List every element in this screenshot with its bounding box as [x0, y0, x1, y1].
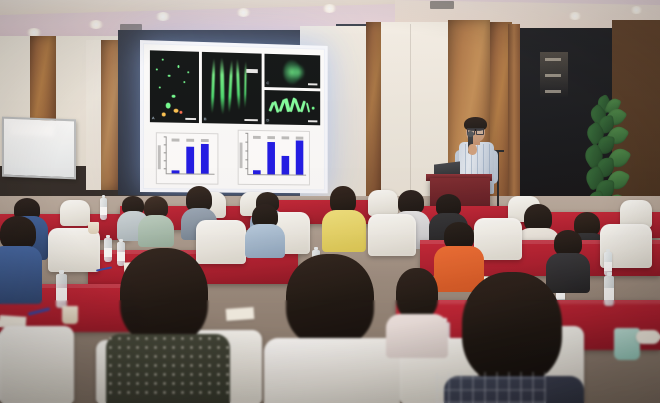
fluorescent-filament — [211, 58, 216, 113]
fluorescent-punctum — [177, 65, 179, 68]
panel-a-content: A — [150, 50, 199, 123]
bottle-label — [604, 262, 612, 271]
plaid-pattern — [436, 372, 546, 403]
scale-bar — [185, 118, 196, 120]
y-tick — [245, 150, 248, 151]
panel-label-b: B — [204, 117, 207, 121]
ceiling-downlight — [630, 6, 643, 14]
y-tick — [245, 133, 248, 134]
torso — [546, 253, 590, 293]
fluorescent-punctum-amber — [174, 109, 179, 113]
hair — [462, 272, 562, 384]
panel-b-content: B — [202, 52, 262, 124]
x-tick-label — [253, 136, 261, 139]
bottle-cap — [314, 247, 318, 250]
bar-left-3 — [201, 144, 209, 174]
tile-seam — [410, 24, 411, 206]
panel-label-c: C — [266, 81, 269, 85]
x-tick-label — [172, 138, 180, 141]
fluorescent-filament — [236, 59, 241, 110]
fluorescent-chevron — [300, 100, 306, 112]
ceiling-downlight — [322, 4, 337, 13]
panel-d-content: D — [264, 90, 320, 125]
speaker-hand — [468, 144, 477, 155]
water-bottle — [604, 276, 614, 306]
chart-left-plot-area — [166, 136, 215, 174]
ceiling-air-vent — [430, 1, 454, 9]
polka-dot-pattern — [106, 334, 230, 400]
doorway-frame — [508, 24, 520, 219]
x-tick-label — [282, 136, 290, 139]
hair — [396, 268, 438, 320]
micrograph-panel-b: B — [201, 51, 263, 125]
torso — [386, 314, 448, 358]
chair — [368, 214, 416, 256]
bar-right-2 — [267, 142, 275, 174]
projection-screen: A B — [140, 40, 328, 193]
notepad — [226, 307, 255, 321]
panel-label-d: D — [266, 118, 269, 122]
y-axis-title-left — [158, 145, 161, 169]
chair — [0, 326, 74, 403]
scale-bar — [244, 119, 257, 121]
fluorescent-punctum — [183, 81, 185, 83]
torso — [264, 338, 400, 403]
y-tick — [164, 152, 167, 153]
bottle-cap — [102, 195, 105, 198]
fluorescent-punctum-red — [179, 111, 182, 114]
scale-bar — [308, 83, 317, 85]
torso — [322, 210, 366, 252]
fluorescent-chevron — [306, 103, 310, 113]
y-tick — [164, 168, 167, 169]
bar-chart-right — [238, 130, 310, 186]
bar-chart-left — [156, 132, 219, 184]
y-tick — [245, 159, 248, 160]
fluorescent-filament — [220, 57, 225, 114]
chair — [196, 220, 246, 264]
bar-right-1 — [253, 170, 261, 174]
fluorescent-punctum — [162, 59, 164, 61]
bottle-cap — [59, 270, 64, 274]
micrograph-panel-c: C — [264, 53, 322, 90]
panel-label-a: A — [152, 116, 155, 120]
chair — [60, 200, 90, 226]
scale-bar — [246, 69, 257, 73]
micrograph-panel-d: D — [264, 89, 322, 126]
micrograph-panel-a: A — [149, 49, 200, 124]
whiteboard — [2, 117, 76, 180]
chair — [368, 190, 398, 216]
hair — [0, 216, 36, 250]
fluorescent-filament — [228, 60, 234, 113]
torso — [245, 224, 285, 258]
bar-right-3 — [282, 156, 290, 175]
hair — [286, 254, 374, 346]
x-tick-label — [296, 137, 304, 140]
hair — [120, 248, 208, 344]
paper-cup — [88, 222, 99, 234]
presentation-slide: A B — [144, 44, 324, 189]
bottle-label — [100, 207, 107, 215]
fluorescent-punctum — [312, 107, 315, 110]
fluorescent-punctum — [156, 68, 158, 70]
y-axis-title-right — [240, 143, 243, 169]
x-tick-label — [267, 136, 275, 139]
ceiling-downlight — [568, 12, 582, 20]
fluorescent-punctum — [187, 71, 189, 73]
bottle-cap — [106, 235, 110, 238]
bottle-label — [56, 288, 67, 301]
fluorescent-punctum — [166, 103, 171, 109]
fluorescent-punctum-amber — [162, 112, 166, 116]
wood-column — [366, 22, 381, 207]
y-tick — [164, 144, 167, 145]
torso — [0, 246, 42, 304]
ceiling-downlight — [155, 12, 171, 21]
paper-cup — [62, 306, 78, 324]
ceiling-downlight — [236, 8, 251, 17]
x-tick-label — [186, 139, 194, 142]
notepad — [636, 330, 660, 344]
bottle-cap — [606, 249, 610, 252]
fluorescent-punctum — [159, 86, 161, 88]
fluorescent-blob — [293, 64, 304, 80]
y-tick — [164, 160, 167, 161]
doorway-glint-bar — [545, 74, 561, 77]
y-tick — [245, 142, 248, 143]
ceiling-downlight — [88, 20, 104, 29]
panel-c-content: C — [264, 54, 320, 89]
doorway-glint-bar — [545, 90, 561, 93]
water-bottle — [104, 238, 112, 262]
whiteboard-glare — [10, 123, 54, 137]
y-tick — [164, 136, 167, 137]
microphone-head — [467, 131, 474, 137]
x-tick-label — [201, 139, 209, 142]
eyeglass-lens — [476, 129, 484, 135]
y-tick — [245, 168, 248, 169]
chart-right-plot-area — [247, 134, 306, 176]
bar-left-2 — [186, 147, 194, 174]
bar-left-1 — [172, 170, 180, 173]
fluorescent-punctum — [172, 95, 176, 98]
bottle-cap — [607, 272, 612, 276]
doorway-glint-bar — [545, 58, 561, 61]
scale-bar — [308, 120, 317, 122]
bottle-label — [117, 252, 125, 261]
fluorescent-punctum — [168, 75, 171, 77]
bar-right-4 — [296, 140, 304, 174]
chair — [48, 228, 100, 272]
water-bottle — [100, 198, 107, 220]
water-bottle — [56, 274, 67, 308]
bottle-label — [104, 248, 112, 257]
torso — [138, 215, 174, 247]
bottle-cap — [119, 239, 123, 242]
bottle-label — [604, 288, 614, 300]
conference-photo: A B — [0, 0, 660, 403]
